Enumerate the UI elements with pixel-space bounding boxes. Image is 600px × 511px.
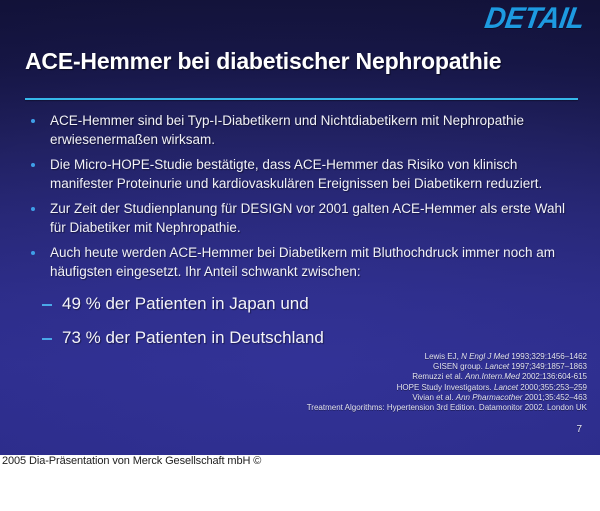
list-item: Zur Zeit der Studienplanung für DESIGN v… [0, 200, 600, 237]
reference-author: Treatment Algorithms: Hypertension 3rd E… [307, 403, 587, 412]
reference-journal: Lancet [494, 383, 518, 392]
slide-canvas: DETAIL ACE-Hemmer bei diabetischer Nephr… [0, 0, 600, 455]
detail-logo: DETAIL [482, 2, 586, 36]
page-title: ACE-Hemmer bei diabetischer Nephropathie [25, 48, 585, 75]
reference-citation: 1997;349:1857–1863 [511, 362, 587, 371]
list-item-label: Die Micro-HOPE-Studie bestätigte, dass A… [50, 157, 542, 191]
sub-list-item: 49 % der Patienten in Japan und [0, 293, 600, 315]
reference-author: Lewis EJ, [425, 352, 459, 361]
list-item: Die Micro-HOPE-Studie bestätigte, dass A… [0, 156, 600, 193]
reference-list: Lewis EJ, N Engl J Med 1993;329:1456–146… [307, 352, 587, 413]
list-item-label: ACE-Hemmer sind bei Typ-I-Diabetikern un… [50, 113, 524, 147]
presentation-footer: 2005 Dia-Präsentation von Merck Gesellsc… [2, 455, 261, 467]
reference-author: Remuzzi et al. [412, 372, 463, 381]
sub-list-item: 73 % der Patienten in Deutschland [0, 327, 600, 349]
reference-journal: Ann.Intern.Med [465, 372, 520, 381]
sub-list-item-label: 73 % der Patienten in Deutschland [62, 328, 324, 347]
dash-bullet-icon [42, 338, 52, 340]
list-item: Auch heute werden ACE-Hemmer bei Diabeti… [0, 244, 600, 281]
reference-item: Lewis EJ, N Engl J Med 1993;329:1456–146… [307, 352, 587, 362]
reference-citation: 2002:136:604-615 [522, 372, 587, 381]
reference-journal: N Engl J Med [461, 352, 509, 361]
sub-list-item-label: 49 % der Patienten in Japan und [62, 294, 309, 313]
reference-item: Remuzzi et al. Ann.Intern.Med 2002:136:6… [307, 372, 587, 382]
reference-journal: Lancet [485, 362, 509, 371]
reference-citation: 2000;355:253–259 [520, 383, 587, 392]
reference-item: HOPE Study Investigators. Lancet 2000;35… [307, 383, 587, 393]
dash-bullet-icon [42, 304, 52, 306]
list-item-label: Zur Zeit der Studienplanung für DESIGN v… [50, 201, 565, 235]
reference-journal: Ann Pharmacother [456, 393, 523, 402]
reference-author: Vivian et al. [412, 393, 453, 402]
bullet-dot-icon [31, 251, 35, 255]
bullet-dot-icon [31, 163, 35, 167]
bullet-dot-icon [31, 119, 35, 123]
reference-author: HOPE Study Investigators. [397, 383, 492, 392]
reference-author: GISEN group. [433, 362, 483, 371]
slide-page-number: 7 [576, 424, 582, 435]
title-divider [25, 98, 578, 100]
reference-citation: 2001;35:452–463 [525, 393, 587, 402]
reference-citation: 1993;329:1456–1462 [511, 352, 587, 361]
reference-item: Vivian et al. Ann Pharmacother 2001;35:4… [307, 393, 587, 403]
reference-item: Treatment Algorithms: Hypertension 3rd E… [307, 403, 587, 413]
bullet-dot-icon [31, 207, 35, 211]
reference-item: GISEN group. Lancet 1997;349:1857–1863 [307, 362, 587, 372]
list-item-label: Auch heute werden ACE-Hemmer bei Diabeti… [50, 245, 555, 279]
bullet-list: ACE-Hemmer sind bei Typ-I-Diabetikern un… [0, 112, 600, 349]
list-item: ACE-Hemmer sind bei Typ-I-Diabetikern un… [0, 112, 600, 149]
